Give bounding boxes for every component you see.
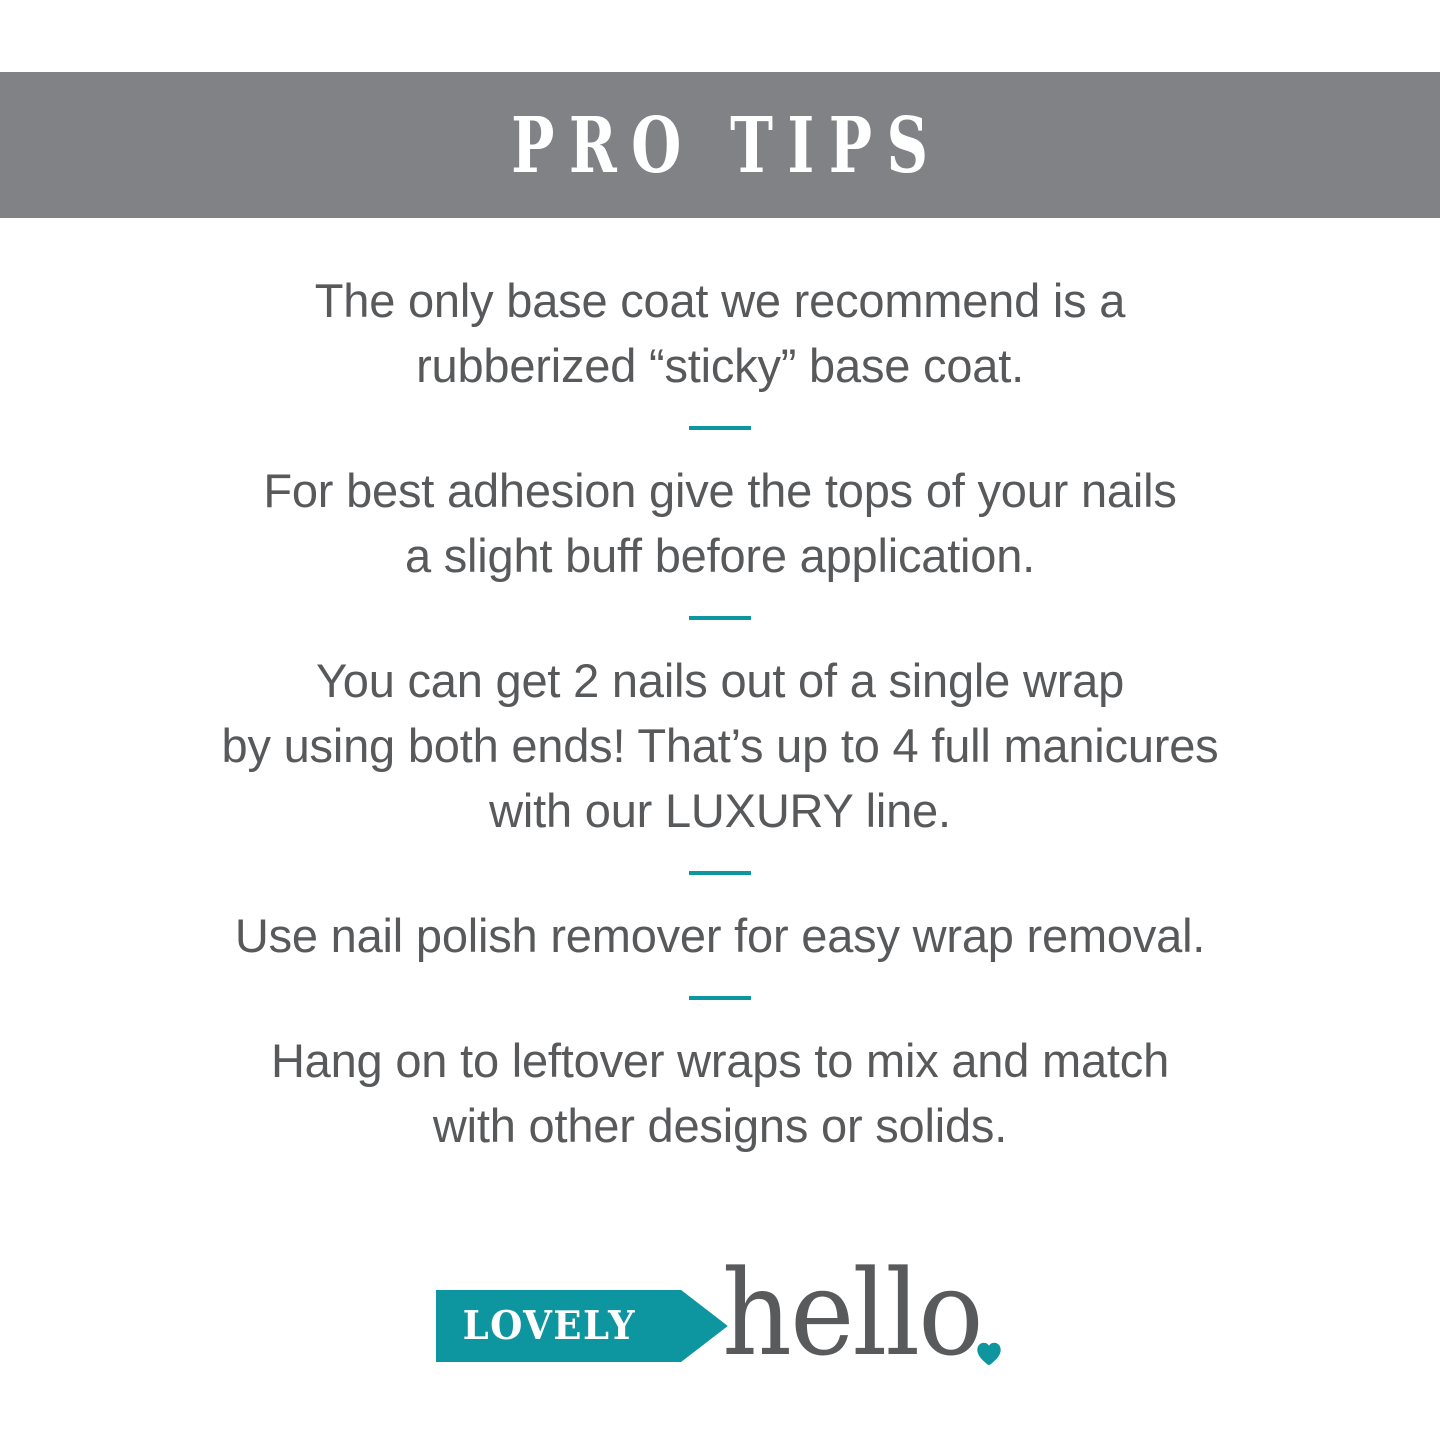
lovely-badge-label: LOVELY: [436, 1307, 636, 1346]
tip-item: Use nail polish remover for easy wrap re…: [100, 903, 1340, 968]
divider-rule: [689, 996, 751, 1000]
tip-item: The only base coat we recommend is a rub…: [100, 268, 1340, 398]
heart-icon: [976, 1342, 1002, 1366]
brand-logo: LOVELY hello: [0, 1246, 1440, 1376]
tip-divider: [0, 996, 1440, 1000]
divider-rule: [689, 871, 751, 875]
tip-item: For best adhesion give the tops of your …: [100, 458, 1340, 588]
divider-rule: [689, 426, 751, 430]
tip-divider: [0, 616, 1440, 620]
header-banner: PRO TIPS: [0, 72, 1440, 218]
tip-item: You can get 2 nails out of a single wrap…: [100, 648, 1340, 843]
tip-divider: [0, 871, 1440, 875]
hello-wordmark: hello: [722, 1254, 982, 1372]
tip-item: Hang on to leftover wraps to mix and mat…: [100, 1028, 1340, 1158]
tips-list: The only base coat we recommend is a rub…: [0, 268, 1440, 1158]
lovely-badge: LOVELY: [436, 1290, 728, 1362]
divider-rule: [689, 616, 751, 620]
tip-divider: [0, 426, 1440, 430]
pro-tips-card: PRO TIPS The only base coat we recommend…: [0, 0, 1440, 1440]
page-title: PRO TIPS: [497, 106, 943, 183]
